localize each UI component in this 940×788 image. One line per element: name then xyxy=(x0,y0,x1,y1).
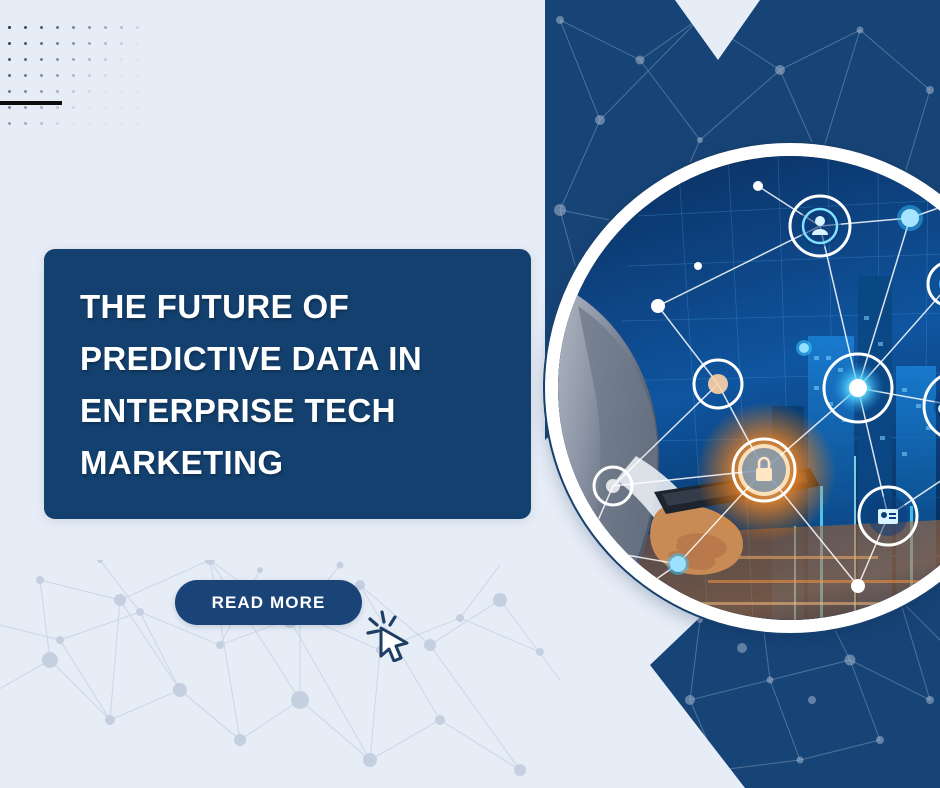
grid-dot xyxy=(24,90,27,93)
grid-dot xyxy=(104,122,107,125)
grid-dot xyxy=(8,90,11,93)
grid-dot xyxy=(56,106,59,109)
grid-dot xyxy=(120,90,123,93)
click-cursor-icon xyxy=(366,608,412,662)
grid-dot xyxy=(8,58,11,61)
grid-dot xyxy=(40,58,43,61)
hero-image-circle xyxy=(545,143,940,633)
grid-dot xyxy=(104,58,107,61)
grid-dot xyxy=(120,122,123,125)
grid-dot xyxy=(136,42,139,45)
grid-dot xyxy=(88,26,91,29)
grid-dot xyxy=(56,58,59,61)
grid-dot xyxy=(88,74,91,77)
page-title: THE FUTURE OF PREDICTIVE DATA IN ENTERPR… xyxy=(80,281,500,489)
grid-dot xyxy=(24,106,27,109)
grid-dot xyxy=(8,74,11,77)
grid-dot xyxy=(8,106,11,109)
grid-dot xyxy=(24,58,27,61)
grid-dot xyxy=(136,122,139,125)
grid-dot xyxy=(88,58,91,61)
grid-dot xyxy=(72,122,75,125)
grid-dot xyxy=(104,42,107,45)
grid-dot xyxy=(88,42,91,45)
grid-dot xyxy=(72,106,75,109)
grid-dot xyxy=(120,42,123,45)
grid-dot xyxy=(104,26,107,29)
grid-dot xyxy=(88,90,91,93)
grid-dot xyxy=(88,106,91,109)
grid-dot xyxy=(40,42,43,45)
grid-dot xyxy=(8,122,11,125)
grid-dot xyxy=(120,58,123,61)
black-rule xyxy=(0,101,62,105)
grid-dot xyxy=(72,74,75,77)
grid-dot xyxy=(136,74,139,77)
grid-dot xyxy=(104,90,107,93)
grid-dot xyxy=(24,74,27,77)
grid-dot xyxy=(72,26,75,29)
grid-dot xyxy=(136,90,139,93)
read-more-button[interactable]: READ MORE xyxy=(175,580,362,625)
grid-dot xyxy=(56,90,59,93)
grid-dot xyxy=(24,26,27,29)
grid-dot xyxy=(24,42,27,45)
hero-banner: THE FUTURE OF PREDICTIVE DATA IN ENTERPR… xyxy=(0,0,940,788)
grid-dot xyxy=(88,122,91,125)
grid-dot xyxy=(8,26,11,29)
grid-dot xyxy=(136,26,139,29)
grid-dot xyxy=(56,122,59,125)
grid-dot xyxy=(40,74,43,77)
grid-dot xyxy=(72,90,75,93)
grid-dot xyxy=(72,58,75,61)
grid-dot xyxy=(104,74,107,77)
dot-grid-pattern xyxy=(8,26,148,154)
grid-dot xyxy=(136,58,139,61)
grid-dot xyxy=(72,42,75,45)
id-card-icon xyxy=(878,509,898,524)
headline-panel: THE FUTURE OF PREDICTIVE DATA IN ENTERPR… xyxy=(44,249,531,519)
grid-dot xyxy=(56,42,59,45)
grid-dot xyxy=(120,74,123,77)
grid-dot xyxy=(40,106,43,109)
grid-dot xyxy=(8,42,11,45)
grid-dot xyxy=(120,26,123,29)
grid-dot xyxy=(56,74,59,77)
grid-dot xyxy=(56,26,59,29)
grid-dot xyxy=(104,106,107,109)
grid-dot xyxy=(24,122,27,125)
grid-dot xyxy=(40,90,43,93)
grid-dot xyxy=(136,106,139,109)
grid-dot xyxy=(40,26,43,29)
grid-dot xyxy=(120,106,123,109)
grid-dot xyxy=(40,122,43,125)
